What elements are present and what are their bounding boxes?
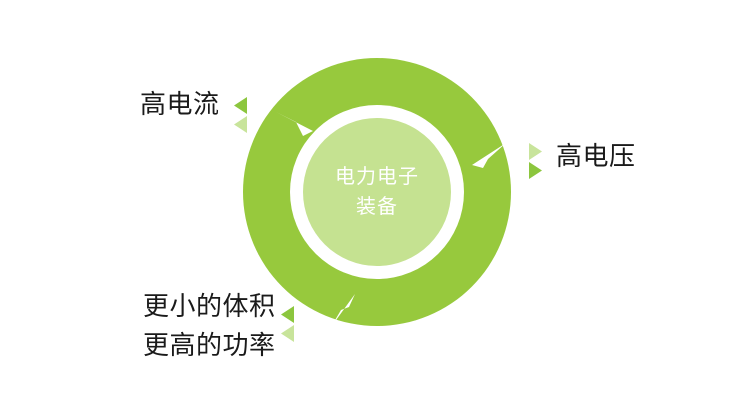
callout-label-high-voltage: 高电压	[556, 139, 636, 173]
center-label-line-2: 装备	[356, 195, 398, 220]
center-label-line-1: 电力电子	[335, 165, 419, 190]
callout-label-high-current-line-1: 高电流	[140, 87, 220, 121]
diagram-canvas: 电力电子 装备 高电流 高电压 更小的体积 更高的功率	[0, 0, 741, 412]
callout-label-size-power: 更小的体积 更高的功率	[143, 287, 276, 365]
chevron-bottom-left-icon	[280, 305, 296, 343]
center-circle: 电力电子 装备	[303, 118, 451, 266]
callout-label-size-power-line-2: 更高的功率	[143, 326, 276, 365]
callout-label-high-voltage-line-1: 高电压	[556, 139, 636, 173]
chevron-left-icon	[233, 96, 249, 134]
chevron-right-icon	[527, 142, 543, 180]
callout-label-high-current: 高电流	[140, 87, 220, 121]
callout-label-size-power-line-1: 更小的体积	[143, 287, 276, 326]
